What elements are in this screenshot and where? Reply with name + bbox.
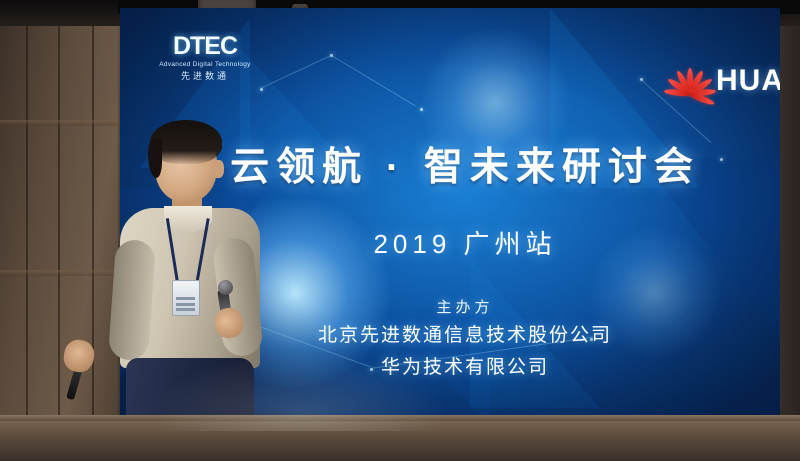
photo-scene: DTEC Advanced Digital Technology 先进数通 HU…	[0, 0, 800, 461]
dtec-logo-mark: DTEC	[125, 34, 285, 59]
dtec-logo: DTEC Advanced Digital Technology 先进数通	[125, 34, 285, 82]
microphone-head-icon	[218, 280, 233, 295]
presenter-hand-left	[61, 338, 96, 375]
huawei-logo: HUA	[672, 64, 780, 98]
huawei-flower-icon	[672, 66, 708, 96]
presenter-ear	[212, 160, 224, 178]
dtec-logo-tagline: Advanced Digital Technology	[125, 61, 285, 68]
huawei-logo-text: HUA	[716, 64, 780, 98]
id-badge	[172, 280, 200, 316]
presenter-arm-left	[108, 239, 156, 361]
presenter-hair-side	[148, 138, 162, 178]
floor	[0, 421, 800, 461]
presenter	[60, 120, 270, 461]
dtec-logo-chinese: 先进数通	[125, 69, 285, 82]
